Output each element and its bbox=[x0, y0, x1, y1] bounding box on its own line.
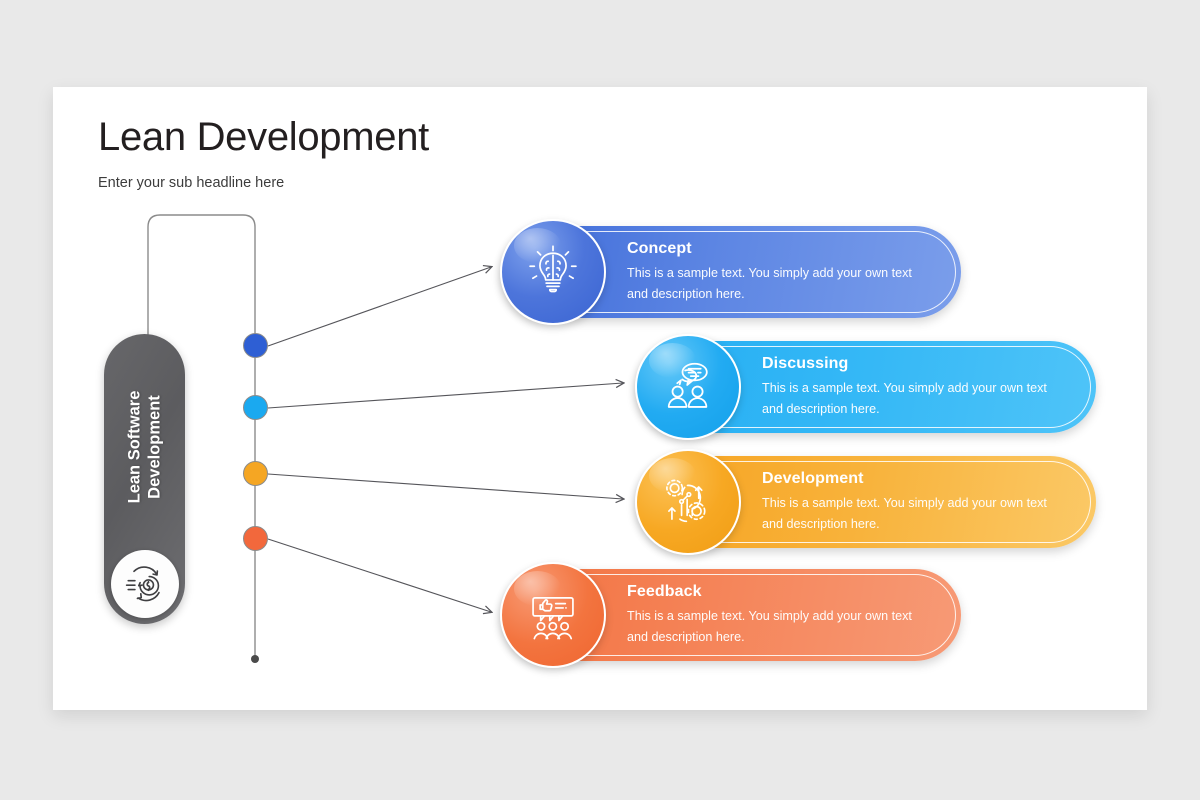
dot-development[interactable] bbox=[243, 461, 268, 486]
dot-discussing[interactable] bbox=[243, 395, 268, 420]
card-desc-line1: This is a sample text. You simply add yo… bbox=[762, 493, 1047, 514]
card-desc-line2: and description here. bbox=[762, 514, 1047, 535]
card-title: Concept bbox=[627, 240, 912, 258]
timeline-end-marker bbox=[251, 655, 259, 663]
hub-label-line2: Development bbox=[146, 395, 164, 499]
card-desc-line2: and description here. bbox=[762, 399, 1047, 420]
dot-feedback[interactable] bbox=[243, 526, 268, 551]
card-concept[interactable]: Concept This is a sample text. You simpl… bbox=[501, 226, 961, 318]
card-title: Discussing bbox=[762, 355, 1047, 373]
gears-chart-growth-icon bbox=[635, 449, 741, 555]
card-discussing[interactable]: Discussing This is a sample text. You si… bbox=[636, 341, 1096, 433]
hub-label: Lean Software Development bbox=[104, 334, 185, 559]
hub-label-line1: Lean Software bbox=[126, 390, 144, 503]
gear-dollar-cycle-icon bbox=[111, 550, 179, 618]
card-text-block: Concept This is a sample text. You simpl… bbox=[627, 240, 912, 305]
card-title: Feedback bbox=[627, 583, 912, 601]
people-speech-bubbles-icon bbox=[635, 334, 741, 440]
card-title: Development bbox=[762, 470, 1047, 488]
card-desc-line1: This is a sample text. You simply add yo… bbox=[627, 606, 912, 627]
card-desc-line2: and description here. bbox=[627, 284, 912, 305]
lightbulb-brain-icon bbox=[500, 219, 606, 325]
hub-pill[interactable]: Lean Software Development bbox=[104, 334, 185, 624]
card-desc-line1: This is a sample text. You simply add yo… bbox=[762, 378, 1047, 399]
card-desc-line1: This is a sample text. You simply add yo… bbox=[627, 263, 912, 284]
branch-arrow-development bbox=[268, 474, 623, 499]
card-development[interactable]: Development This is a sample text. You s… bbox=[636, 456, 1096, 548]
card-text-block: Development This is a sample text. You s… bbox=[762, 470, 1047, 535]
branch-arrow-concept bbox=[268, 267, 491, 346]
page-title: Lean Development bbox=[98, 115, 429, 160]
slide: Lean Development Enter your sub headline… bbox=[53, 87, 1147, 710]
thumbs-up-review-people-icon bbox=[500, 562, 606, 668]
card-text-block: Feedback This is a sample text. You simp… bbox=[627, 583, 912, 648]
card-text-block: Discussing This is a sample text. You si… bbox=[762, 355, 1047, 420]
dot-concept[interactable] bbox=[243, 333, 268, 358]
branch-arrow-feedback bbox=[268, 539, 491, 612]
card-desc-line2: and description here. bbox=[627, 627, 912, 648]
page-subtitle: Enter your sub headline here bbox=[98, 175, 284, 191]
branch-arrow-discussing bbox=[268, 383, 623, 408]
card-feedback[interactable]: Feedback This is a sample text. You simp… bbox=[501, 569, 961, 661]
slide-canvas: Lean Development Enter your sub headline… bbox=[0, 0, 1200, 800]
